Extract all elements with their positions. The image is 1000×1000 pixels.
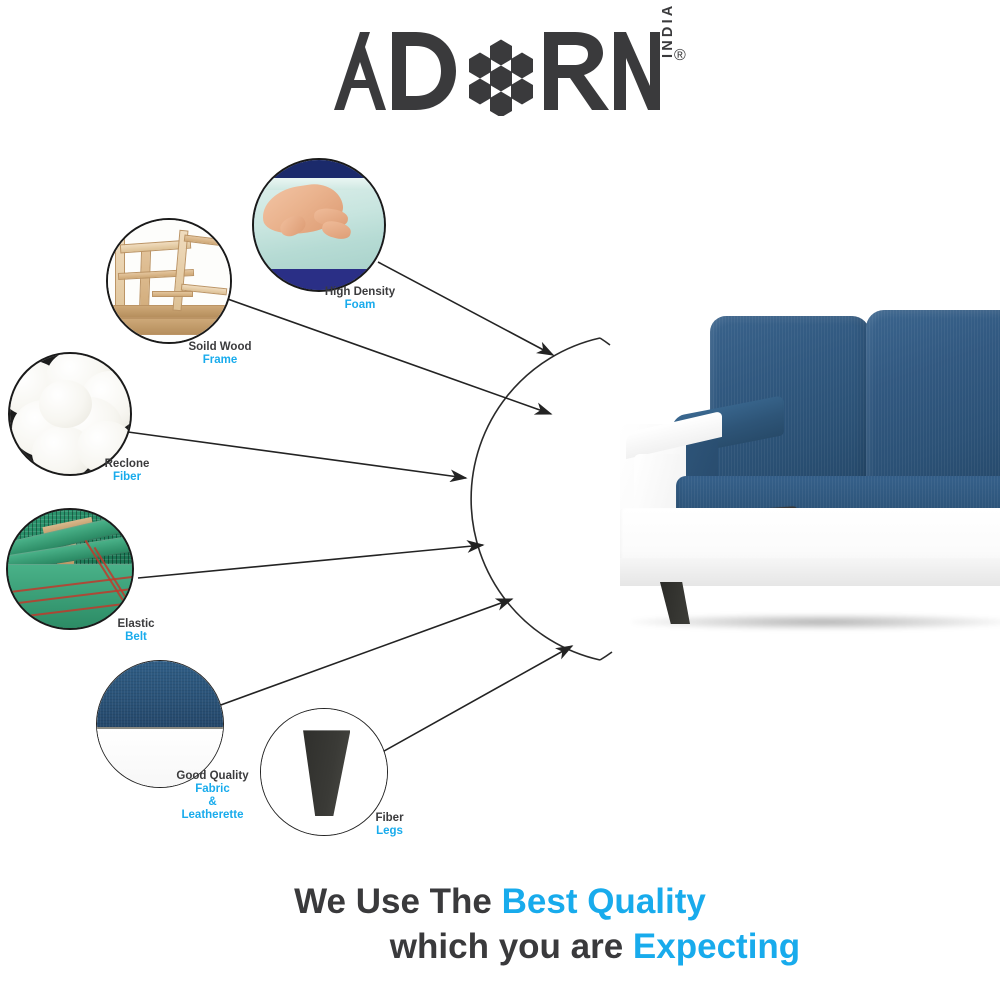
sofa-back-cushion-right [866,310,1000,492]
elastic-belt-image [6,508,134,630]
tagline: We Use The Best Quality which you are Ex… [0,880,1000,970]
brand-logo: INDIA ® [330,24,700,129]
tagline-row2-highlight: Expecting [633,927,800,966]
solid-wood-frame-image [106,218,232,344]
fiber-legs-label: Fiber Legs [342,812,437,838]
good-quality-fabric-image [96,660,224,788]
tagline-row-1: We Use The Best Quality [0,880,1000,925]
center-arc [471,338,600,660]
tagline-row1-highlight: Best Quality [502,882,706,921]
elastic-belt-label: Elastic Belt [86,618,186,644]
arrow-elastic-belt [138,545,483,578]
tagline-row-2: which you are Expecting [0,925,1000,970]
sofa-base-front-panel [620,558,1000,586]
infographic-canvas: INDIA ® [0,0,1000,1000]
arrow-fiber-legs [368,646,572,760]
honeycomb-icon [469,40,533,117]
product-sofa-image [612,296,1000,646]
tagline-row1-plain: We Use The [294,882,501,921]
solid-wood-frame-label: Soild Wood Frame [160,341,280,367]
registered-trademark-icon: ® [674,48,686,64]
tagline-row2-plain: which you are [390,927,633,966]
reclone-fiber-label: Reclone Fiber [72,458,182,484]
adorn-logo-mark [330,24,660,116]
high-density-foam-image [252,158,386,292]
high-density-foam-label: High Density Foam [300,286,420,312]
arrow-good-quality-fabric [218,599,512,706]
